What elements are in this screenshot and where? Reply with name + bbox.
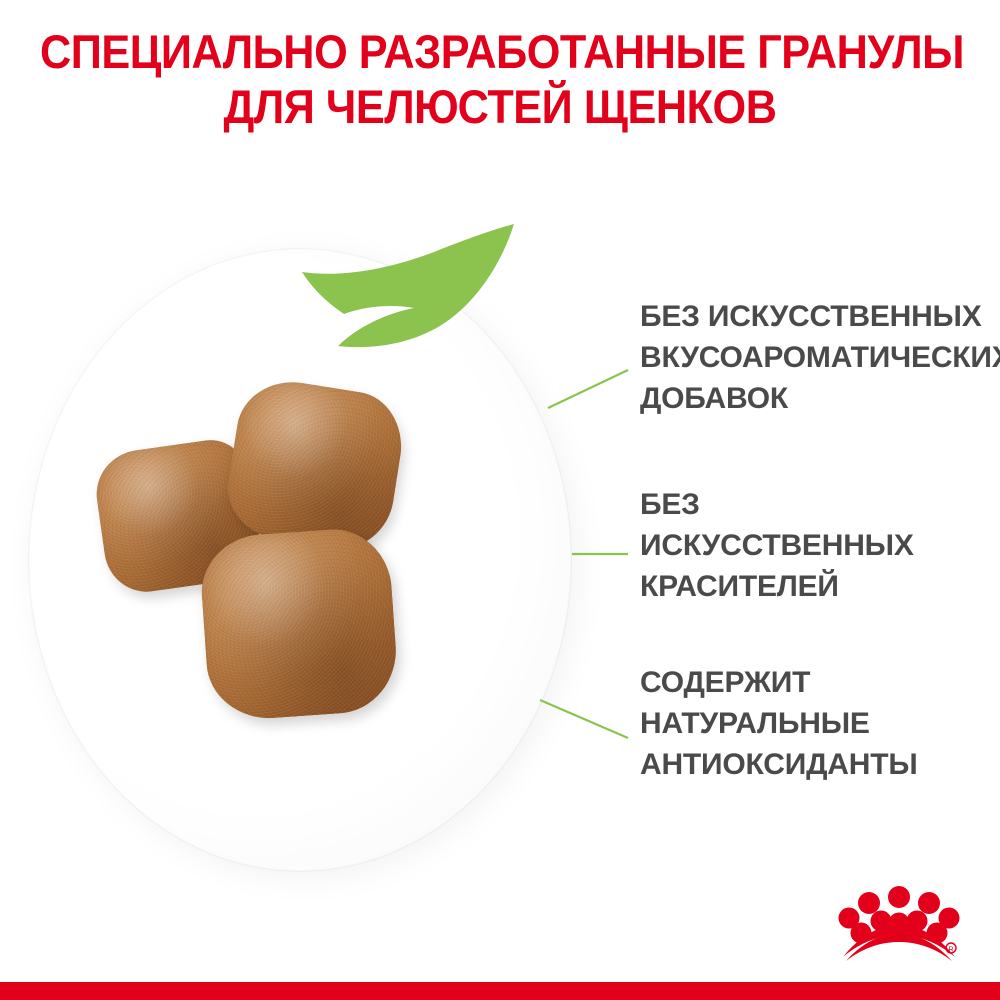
kibble-group <box>80 380 450 750</box>
page-title-line-2: ДЛЯ ЧЕЛЮСТЕЙ ЩЕНКОВ <box>40 79 960 134</box>
benefit-line: СОДЕРЖИТ <box>640 662 980 703</box>
bottom-accent-bar <box>0 982 1000 1000</box>
leaf-icon <box>296 222 518 350</box>
benefit-item-no-artificial-flavours: БЕЗ ИСКУССТВЕННЫХ ВКУСОАРОМАТИЧЕСКИХ ДОБ… <box>640 296 990 419</box>
benefit-line: ИСКУССТВЕННЫХ <box>640 525 970 566</box>
benefit-line: ВКУСОАРОМАТИЧЕСКИХ <box>640 337 990 378</box>
trademark-symbol: R <box>948 947 953 954</box>
benefit-line: КРАСИТЕЛЕЙ <box>640 566 970 607</box>
benefit-line: АНТИОКСИДАНТЫ <box>640 744 980 785</box>
benefit-item-contains-natural-antioxidants: СОДЕРЖИТ НАТУРАЛЬНЫЕ АНТИОКСИДАНТЫ <box>640 662 980 785</box>
royal-canin-crown-logo: R <box>838 885 960 963</box>
benefit-item-no-artificial-colours: БЕЗ ИСКУССТВЕННЫХ КРАСИТЕЛЕЙ <box>640 484 970 607</box>
benefit-line: НАТУРАЛЬНЫЕ <box>640 703 980 744</box>
benefit-line: БЕЗ ИСКУССТВЕННЫХ <box>640 296 990 337</box>
benefit-line: ДОБАВОК <box>640 378 990 419</box>
page-title: СПЕЦИАЛЬНО РАЗРАБОТАННЫЕ ГРАНУЛЫ ДЛЯ ЧЕЛ… <box>40 24 960 134</box>
connector-line-1 <box>548 370 628 408</box>
product-feature-panel: СПЕЦИАЛЬНО РАЗРАБОТАННЫЕ ГРАНУЛЫ ДЛЯ ЧЕЛ… <box>0 0 1000 1000</box>
benefit-line: БЕЗ <box>640 484 970 525</box>
page-title-line-1: СПЕЦИАЛЬНО РАЗРАБОТАННЫЕ ГРАНУЛЫ <box>40 25 964 78</box>
connector-line-3 <box>540 700 628 738</box>
kibble-icon <box>198 526 400 723</box>
